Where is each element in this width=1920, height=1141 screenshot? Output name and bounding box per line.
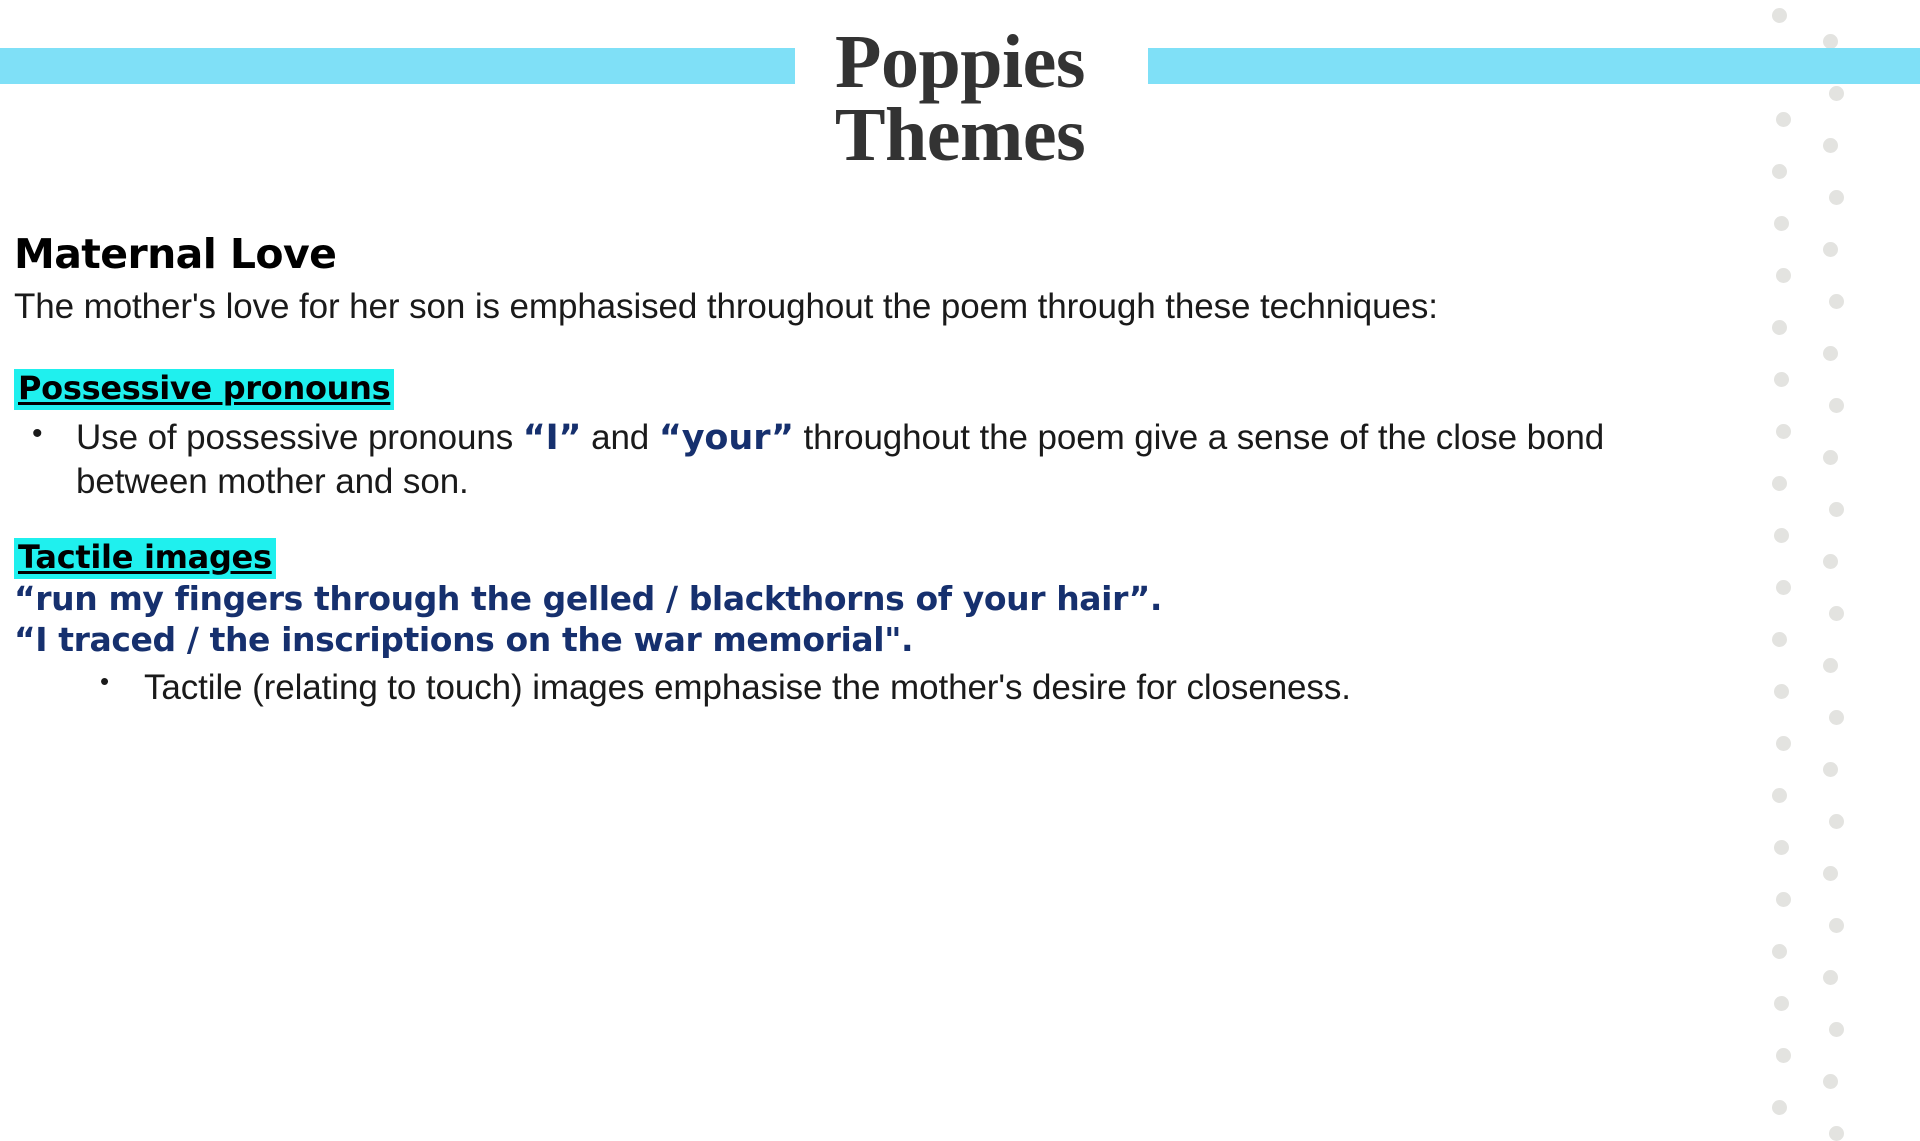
bullet-emphasis-i: “I” xyxy=(523,418,582,458)
decorative-dot xyxy=(1823,450,1838,465)
bullet-text-part-2: and xyxy=(581,418,658,457)
decorative-dot xyxy=(1776,892,1791,907)
subsection-possessive-pronouns: Possessive pronouns Use of possessive pr… xyxy=(14,369,1694,504)
spacer xyxy=(14,329,1694,369)
slide-title: Poppies Themes xyxy=(0,26,1920,172)
decorative-dot xyxy=(1772,632,1787,647)
list-item: Use of possessive pronouns “I” and “your… xyxy=(14,416,1694,504)
intro-paragraph: The mother's love for her son is emphasi… xyxy=(14,284,1694,330)
subsection-heading-tactile-images: Tactile images xyxy=(14,538,276,579)
decorative-dot xyxy=(1823,1074,1838,1089)
bullet-list-possessive-pronouns: Use of possessive pronouns “I” and “your… xyxy=(14,416,1694,504)
decorative-dot xyxy=(1776,268,1791,283)
list-item: Tactile (relating to touch) images empha… xyxy=(14,666,1694,710)
decorative-dot xyxy=(1823,762,1838,777)
spacer xyxy=(14,504,1694,538)
decorative-dot xyxy=(1774,372,1789,387)
decorative-dot xyxy=(1829,1126,1844,1141)
decorative-dot xyxy=(1774,216,1789,231)
decorative-dot xyxy=(1829,606,1844,621)
decorative-dot xyxy=(1772,476,1787,491)
subsection-tactile-images: Tactile images “run my fingers through t… xyxy=(14,538,1694,709)
bullet-emphasis-your: “your” xyxy=(659,418,794,458)
decorative-dot xyxy=(1823,554,1838,569)
quote-line-1: “run my fingers through the gelled / bla… xyxy=(14,579,1694,619)
section-heading-maternal-love: Maternal Love xyxy=(14,232,1694,278)
decorative-dot xyxy=(1823,970,1838,985)
decorative-dot xyxy=(1823,658,1838,673)
quote-line-2: “I traced / the inscriptions on the war … xyxy=(14,620,1694,660)
decorative-dot xyxy=(1772,320,1787,335)
decorative-dot xyxy=(1829,190,1844,205)
title-line-poppies: Poppies xyxy=(809,26,1111,99)
title-line-themes: Themes xyxy=(0,99,1920,172)
decorative-dot xyxy=(1829,502,1844,517)
decorative-dot xyxy=(1823,346,1838,361)
subsection-heading-possessive-pronouns: Possessive pronouns xyxy=(14,369,394,410)
decorative-dot xyxy=(1776,1048,1791,1063)
decorative-dot xyxy=(1829,918,1844,933)
decorative-dot xyxy=(1772,1100,1787,1115)
decorative-dot xyxy=(1823,866,1838,881)
decorative-dot xyxy=(1829,398,1844,413)
bullet-list-tactile-images: Tactile (relating to touch) images empha… xyxy=(14,666,1694,710)
decorative-dot xyxy=(1829,710,1844,725)
decorative-dot xyxy=(1772,788,1787,803)
decorative-dot xyxy=(1772,944,1787,959)
decorative-dot xyxy=(1829,294,1844,309)
decorative-dot xyxy=(1772,8,1787,23)
decorative-dot xyxy=(1774,684,1789,699)
decorative-dot xyxy=(1823,242,1838,257)
decorative-dot xyxy=(1776,736,1791,751)
decorative-dot xyxy=(1829,814,1844,829)
decorative-dot xyxy=(1829,1022,1844,1037)
decorative-dot xyxy=(1774,840,1789,855)
decorative-dot xyxy=(1774,996,1789,1011)
bullet-text-part-1: Use of possessive pronouns xyxy=(76,418,523,457)
slide-body: Maternal Love The mother's love for her … xyxy=(14,232,1694,710)
decorative-dot xyxy=(1776,580,1791,595)
decorative-dot xyxy=(1776,424,1791,439)
decorative-dot xyxy=(1774,528,1789,543)
